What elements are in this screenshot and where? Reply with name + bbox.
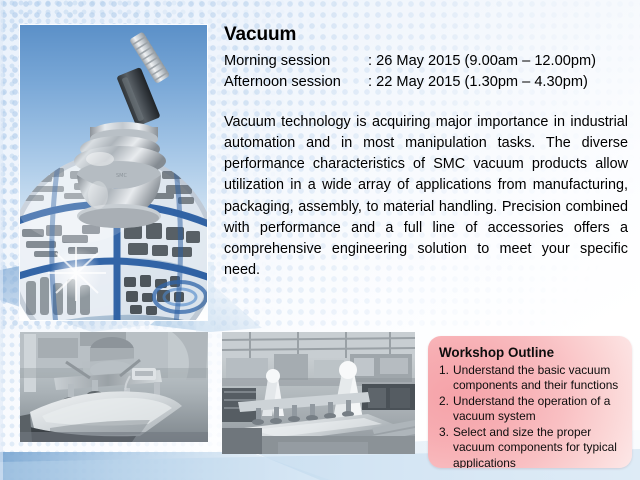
- slide-canvas: SMC: [0, 0, 640, 480]
- workshop-outline-title: Workshop Outline: [439, 345, 622, 362]
- workshop-outline-list: 1.Understand the basic vacuum components…: [439, 363, 622, 468]
- photo-factory-handling-line: [222, 332, 415, 454]
- list-item-number: 3.: [439, 425, 449, 440]
- photo-robot-vacuum-gripper: [20, 332, 208, 442]
- list-item-number: 2.: [439, 394, 449, 409]
- svg-text:SMC: SMC: [116, 173, 127, 179]
- session-label-afternoon: Afternoon session: [224, 72, 368, 93]
- session-value-afternoon: 22 May 2015 (1.30pm – 4.30pm): [376, 74, 588, 90]
- session-separator-afternoon: :: [368, 74, 372, 90]
- session-row-morning: Morning session: 26 May 2015 (9.00am – 1…: [224, 51, 628, 72]
- content-text-column: Vacuum Morning session: 26 May 2015 (9.0…: [224, 24, 628, 296]
- session-separator-morning: :: [368, 53, 372, 69]
- session-row-afternoon: Afternoon session: 22 May 2015 (1.30pm –…: [224, 72, 628, 93]
- page-title: Vacuum: [224, 24, 628, 46]
- list-item-text: Select and size the proper vacuum compon…: [453, 425, 617, 468]
- robot-vacuum-gripper-car-panel-graphic: [20, 332, 208, 442]
- vacuum-suction-cup-product-globe-graphic: SMC: [20, 25, 207, 320]
- list-item: 1.Understand the basic vacuum components…: [439, 363, 622, 394]
- factory-sheet-metal-handling-line-graphic: [222, 332, 415, 454]
- workshop-outline-card: Workshop Outline 1.Understand the basic …: [428, 336, 632, 468]
- body-paragraph: Vacuum technology is acquiring major imp…: [224, 112, 628, 281]
- session-value-morning: 26 May 2015 (9.00am – 12.00pm): [376, 53, 596, 69]
- list-item-text: Understand the basic vacuum components a…: [453, 363, 618, 392]
- list-item-text: Understand the operation of a vacuum sys…: [453, 394, 610, 423]
- session-label-morning: Morning session: [224, 51, 368, 72]
- list-item: 2.Understand the operation of a vacuum s…: [439, 394, 622, 425]
- list-item-number: 1.: [439, 363, 449, 378]
- list-item: 3.Select and size the proper vacuum comp…: [439, 425, 622, 468]
- hero-image-vacuum-product-globe: SMC: [20, 25, 207, 320]
